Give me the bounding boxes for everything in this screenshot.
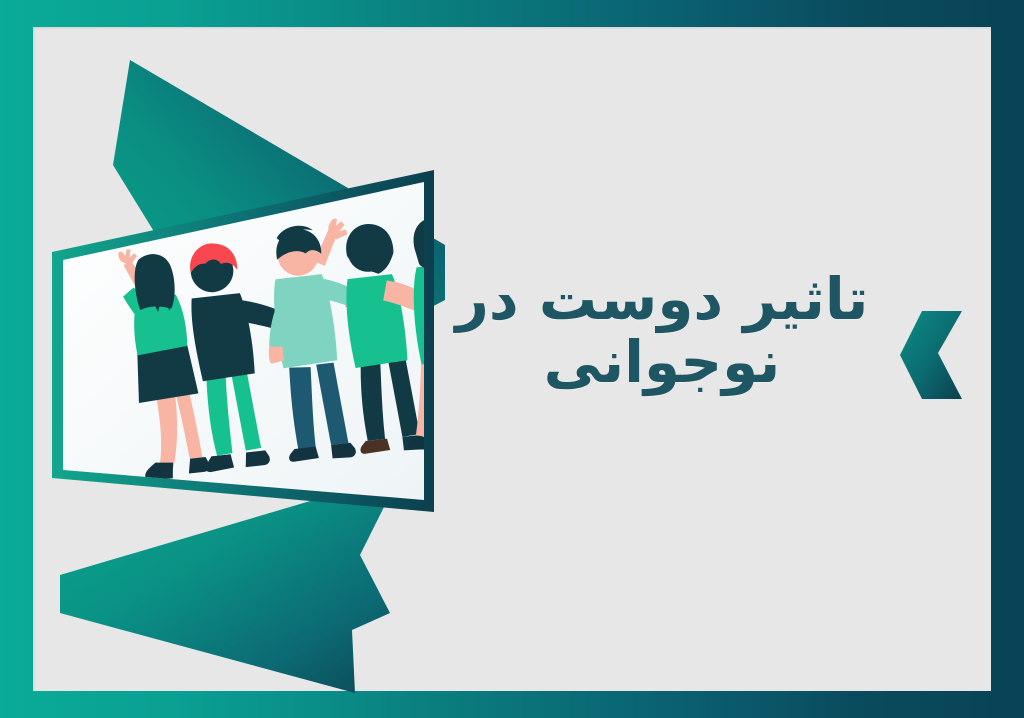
slide-title: تاثیر دوست در نوجوانی xyxy=(452,268,872,393)
left-chevron-icon xyxy=(898,305,968,405)
presentation-slide: تاثیر دوست در نوجوانی xyxy=(0,0,1024,718)
slide-title-line2: نوجوانی xyxy=(452,331,872,394)
slide-title-line1: تاثیر دوست در xyxy=(452,268,872,331)
photo-board xyxy=(38,152,438,552)
